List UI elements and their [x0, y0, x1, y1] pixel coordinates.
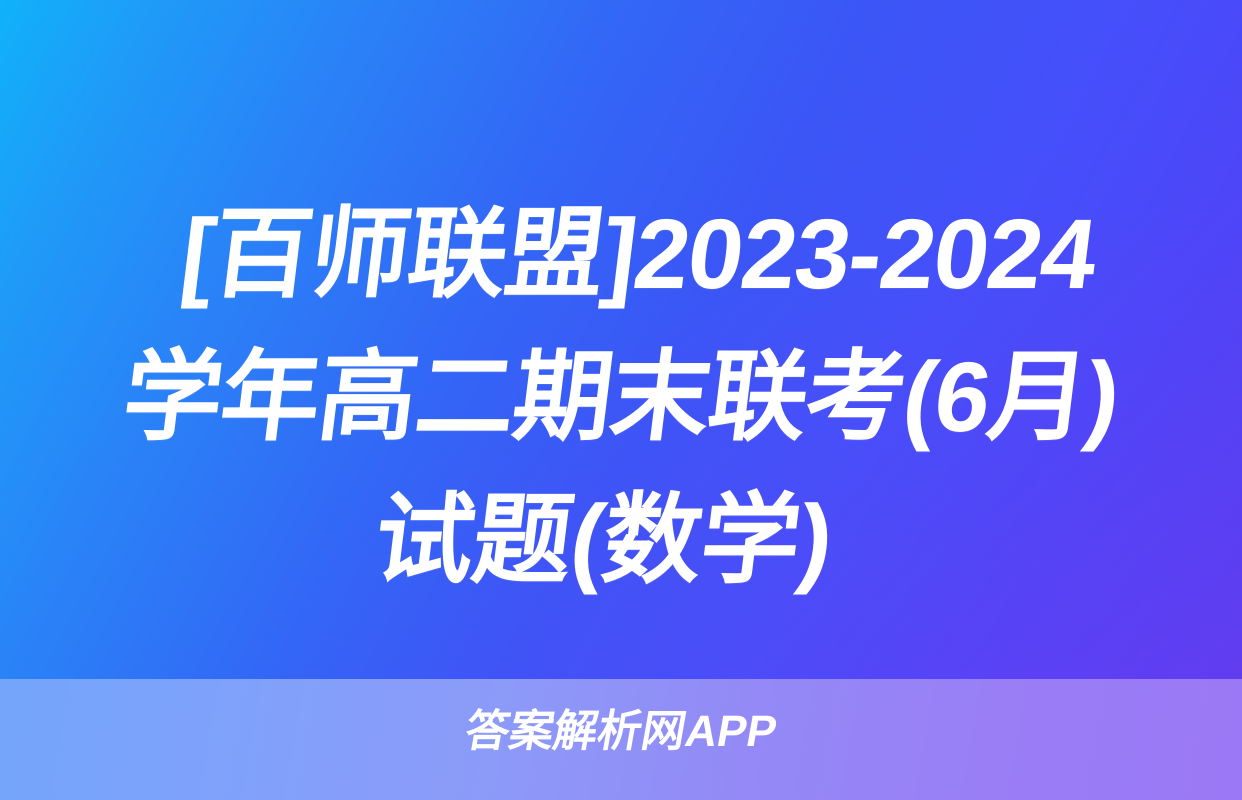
app-brand-label: 答案解析网APP [0, 702, 1242, 762]
headline-line-2: 学年高二期末联考(6月) [0, 325, 1242, 468]
headline-block: [百师联盟]2023-2024 学年高二期末联考(6月) 试题(数学) [0, 182, 1242, 611]
title-card: [百师联盟]2023-2024 学年高二期末联考(6月) 试题(数学) 答案解析… [0, 0, 1242, 800]
headline-line-3: 试题(数学) [0, 468, 1233, 611]
headline-line-1: [百师联盟]2023-2024 [9, 182, 1242, 325]
